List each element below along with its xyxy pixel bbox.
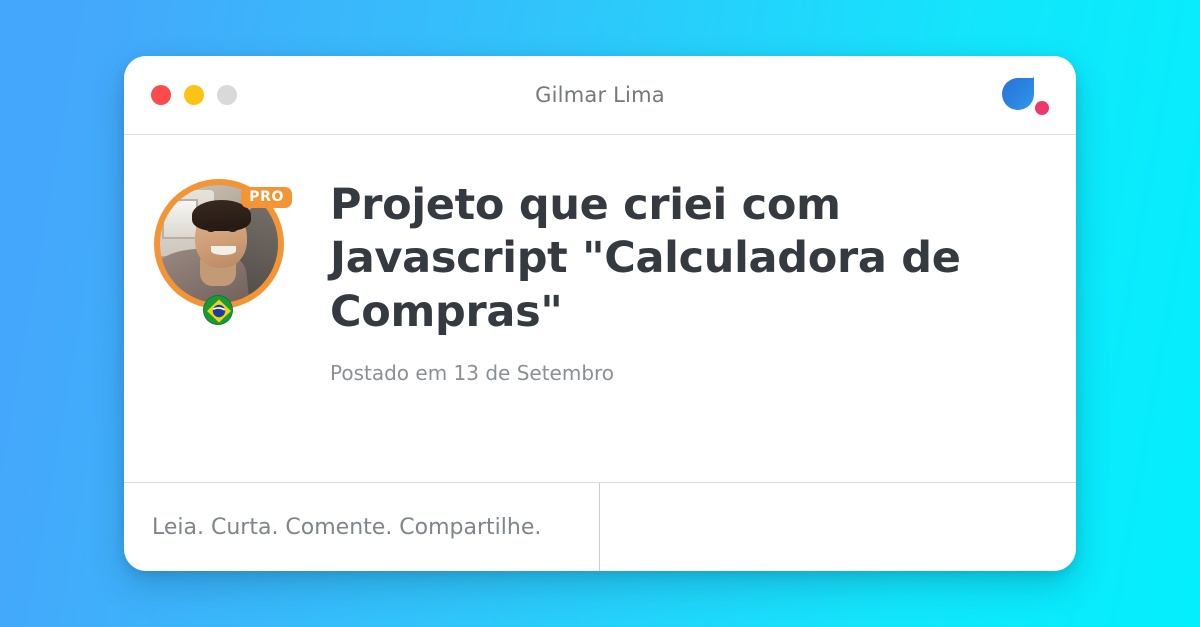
window-title: Gilmar Lima <box>124 83 1076 107</box>
author-column: PRO <box>154 179 300 482</box>
page-title: Projeto que criei com Javascript "Calcul… <box>330 179 1046 339</box>
post-date: Postado em 13 de Setembro <box>330 361 1046 385</box>
post-card: Gilmar Lima <box>124 56 1076 571</box>
pro-badge: PRO <box>241 187 292 208</box>
avatar[interactable]: PRO <box>154 179 284 309</box>
footer-right-slot <box>600 483 1076 571</box>
post-footer: Leia. Curta. Comente. Compartilhe. <box>124 482 1076 571</box>
dev-to-logo-icon <box>996 68 1056 122</box>
footer-tagline: Leia. Curta. Comente. Compartilhe. <box>124 483 599 571</box>
window-titlebar: Gilmar Lima <box>124 56 1076 135</box>
post-text-column: Projeto que criei com Javascript "Calcul… <box>300 179 1046 482</box>
post-body: PRO Projeto que criei com Javascript "Ca… <box>124 135 1076 482</box>
brazil-flag-icon <box>203 295 233 325</box>
